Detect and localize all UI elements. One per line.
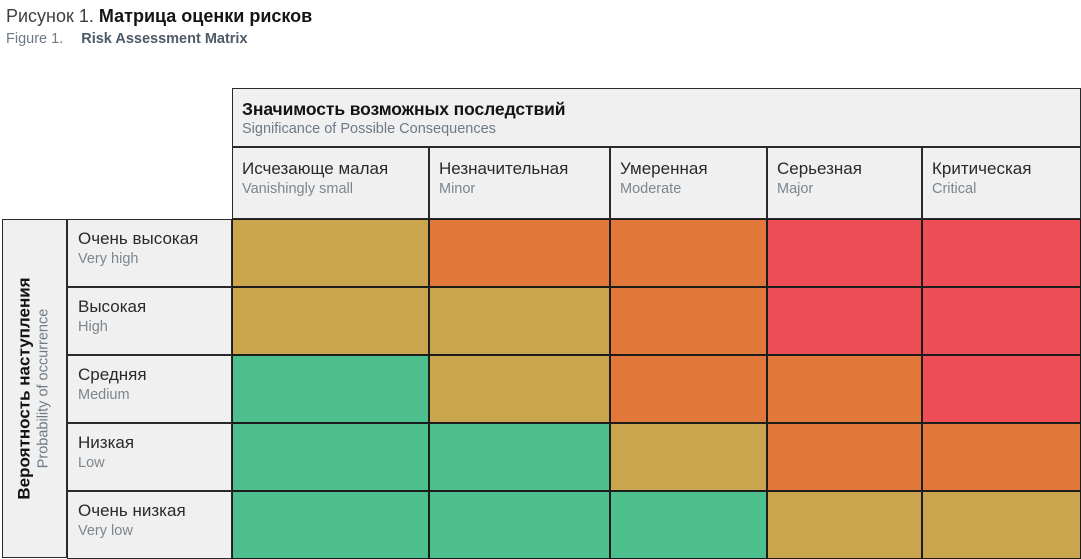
column-header-en: Moderate: [620, 180, 766, 199]
figure-caption-ru: Рисунок 1.Матрица оценки рисков: [6, 4, 706, 28]
row-header-en: Medium: [78, 386, 231, 405]
figure-number-ru: Рисунок 1.: [6, 6, 94, 26]
risk-cell-high-moderate: [610, 287, 767, 355]
risk-cell-high-minor: [429, 287, 610, 355]
column-header-ru: Исчезающе малая: [242, 157, 428, 180]
risk-cell-very-low-vanishingly-small: [232, 491, 429, 559]
figure-caption-en: Figure 1.Risk Assessment Matrix: [6, 29, 706, 49]
risk-cell-high-critical: [922, 287, 1081, 355]
figure-caption: Рисунок 1.Матрица оценки рисков Figure 1…: [6, 4, 706, 49]
column-header-en: Vanishingly small: [242, 180, 428, 199]
row-header-ru: Очень низкая: [78, 499, 231, 522]
risk-cell-very-high-minor: [429, 219, 610, 287]
consequences-axis-header-ru: Значимость возможных последствий: [242, 98, 1080, 120]
risk-cell-very-low-minor: [429, 491, 610, 559]
risk-cell-low-moderate: [610, 423, 767, 491]
risk-cell-high-major: [767, 287, 922, 355]
row-header-high: Высокая High: [67, 287, 232, 355]
probability-axis-header-en: Probability of occurrence: [35, 277, 54, 499]
row-header-very-low: Очень низкая Very low: [67, 491, 232, 559]
risk-cell-very-low-moderate: [610, 491, 767, 559]
probability-axis-header-rotated: Вероятность наступления Probability of o…: [15, 277, 54, 499]
column-header-en: Major: [777, 180, 921, 199]
column-header-ru: Критическая: [932, 157, 1080, 180]
column-header-ru: Серьезная: [777, 157, 921, 180]
probability-axis-header: Вероятность наступления Probability of o…: [2, 219, 67, 558]
figure-title-en: Risk Assessment Matrix: [81, 31, 247, 47]
risk-assessment-matrix: Значимость возможных последствий Signifi…: [2, 88, 1081, 558]
row-header-ru: Низкая: [78, 431, 231, 454]
risk-cell-medium-critical: [922, 355, 1081, 423]
risk-cell-high-vanishingly-small: [232, 287, 429, 355]
row-header-ru: Высокая: [78, 295, 231, 318]
row-header-medium: Средняя Medium: [67, 355, 232, 423]
probability-axis-header-ru: Вероятность наступления: [15, 277, 35, 499]
column-header-en: Critical: [932, 180, 1080, 199]
row-header-en: Low: [78, 454, 231, 473]
risk-cell-very-high-major: [767, 219, 922, 287]
consequences-axis-header: Значимость возможных последствий Signifi…: [232, 88, 1081, 147]
risk-cell-very-high-vanishingly-small: [232, 219, 429, 287]
risk-cell-low-critical: [922, 423, 1081, 491]
column-header-minor: Незначительная Minor: [429, 147, 610, 219]
column-header-en: Minor: [439, 180, 609, 199]
risk-cell-low-vanishingly-small: [232, 423, 429, 491]
column-header-moderate: Умеренная Moderate: [610, 147, 767, 219]
column-header-ru: Умеренная: [620, 157, 766, 180]
risk-cell-very-low-major: [767, 491, 922, 559]
row-header-en: High: [78, 318, 231, 337]
row-header-ru: Очень высокая: [78, 227, 231, 250]
risk-cell-medium-vanishingly-small: [232, 355, 429, 423]
column-header-ru: Незначительная: [439, 157, 609, 180]
row-header-very-high: Очень высокая Very high: [67, 219, 232, 287]
row-header-ru: Средняя: [78, 363, 231, 386]
risk-cell-very-low-critical: [922, 491, 1081, 559]
risk-cell-medium-major: [767, 355, 922, 423]
consequences-axis-header-en: Significance of Possible Consequences: [242, 120, 1080, 139]
column-header-major: Серьезная Major: [767, 147, 922, 219]
risk-cell-very-high-moderate: [610, 219, 767, 287]
risk-cell-medium-minor: [429, 355, 610, 423]
row-header-en: Very high: [78, 250, 231, 269]
figure-number-en: Figure 1.: [6, 31, 63, 47]
column-header-vanishingly-small: Исчезающе малая Vanishingly small: [232, 147, 429, 219]
row-header-en: Very low: [78, 522, 231, 541]
risk-cell-low-major: [767, 423, 922, 491]
row-header-low: Низкая Low: [67, 423, 232, 491]
figure-title-ru: Матрица оценки рисков: [99, 6, 312, 26]
risk-cell-very-high-critical: [922, 219, 1081, 287]
column-header-critical: Критическая Critical: [922, 147, 1081, 219]
risk-cell-low-minor: [429, 423, 610, 491]
risk-cell-medium-moderate: [610, 355, 767, 423]
